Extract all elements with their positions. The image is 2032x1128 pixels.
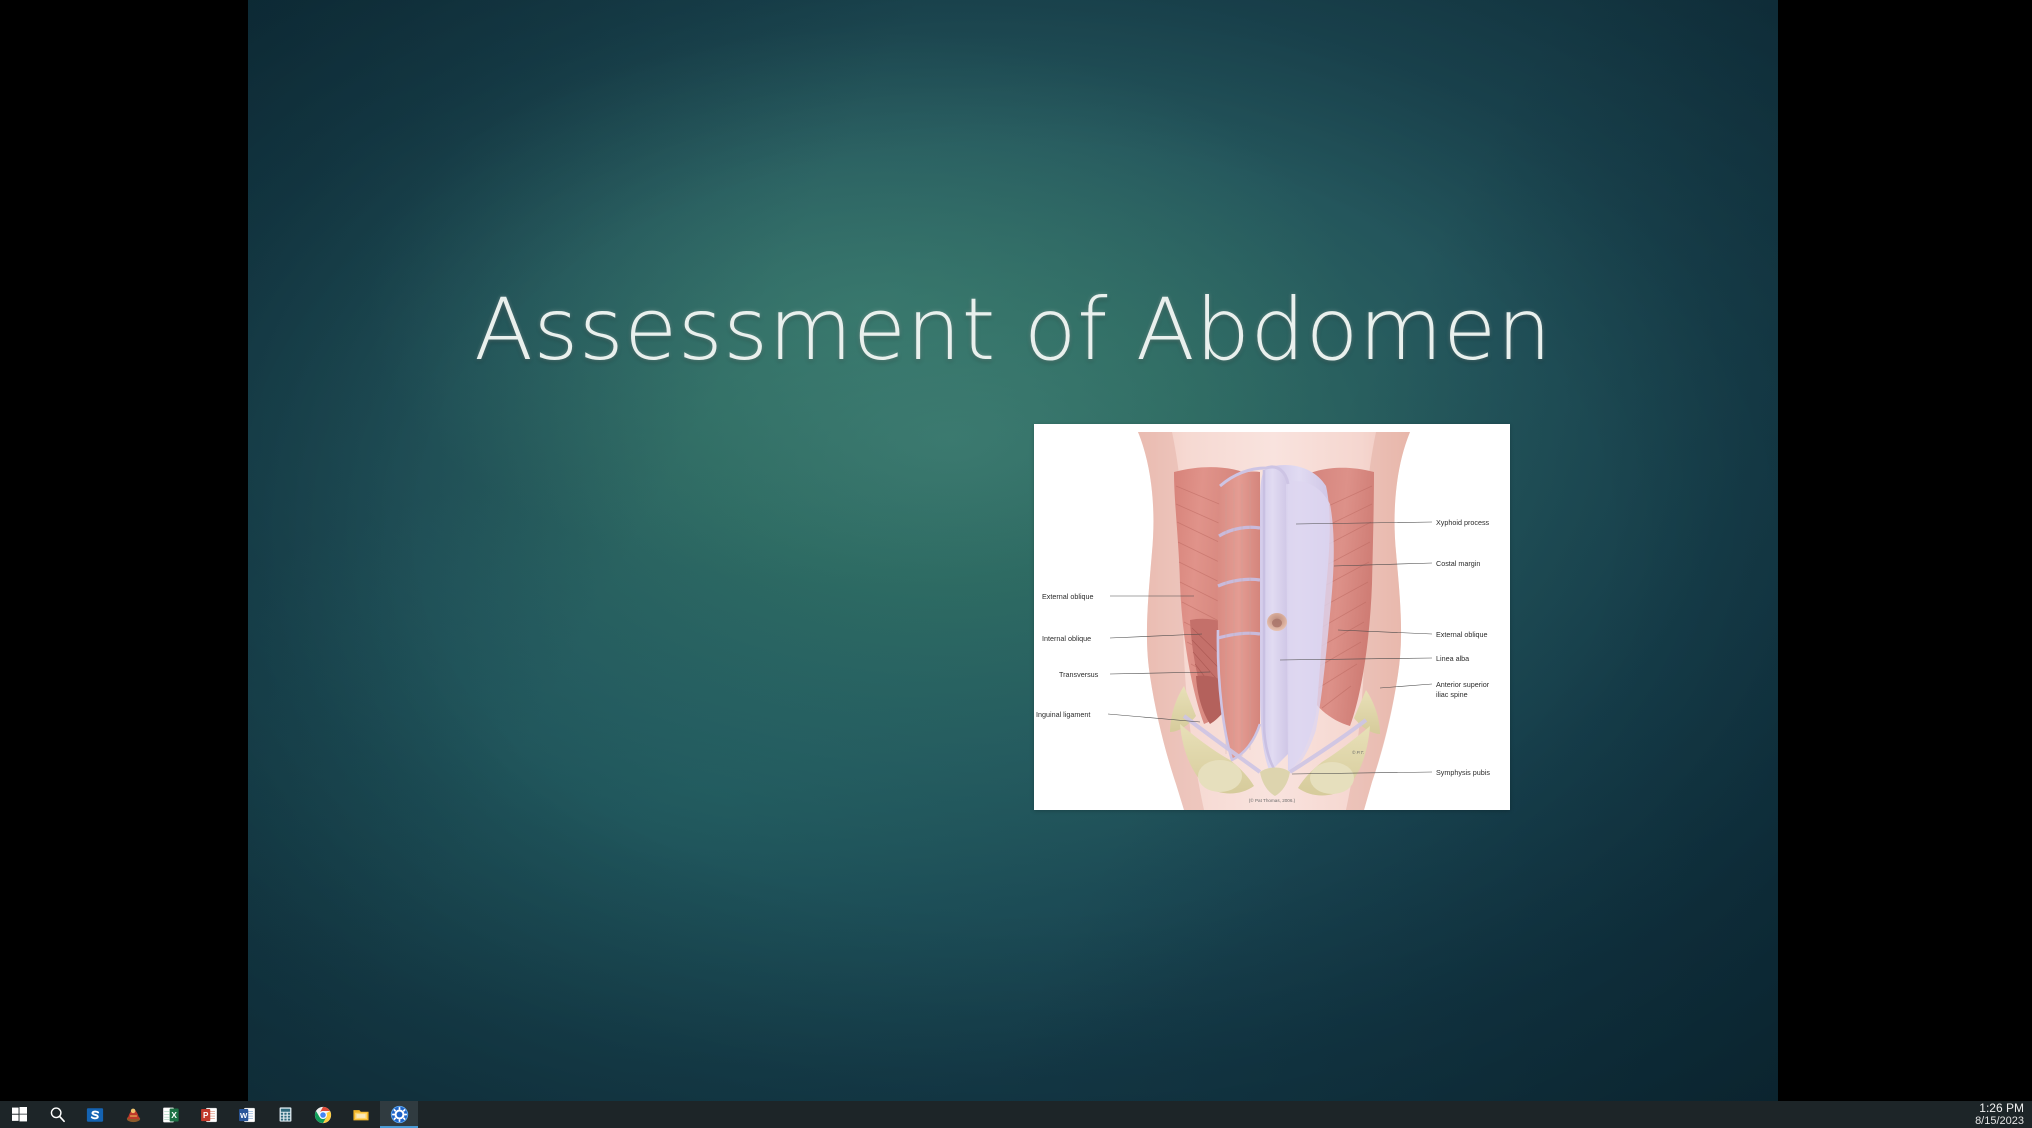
label-linea-alba: Linea alba <box>1436 654 1469 663</box>
taskbar-app-explorer[interactable] <box>342 1101 380 1128</box>
word-icon: W <box>238 1106 256 1124</box>
start-button[interactable] <box>0 1101 38 1128</box>
label-external-oblique-right: External oblique <box>1436 630 1488 639</box>
label-anterior-superior: Anterior superior <box>1436 680 1490 689</box>
label-xyphoid-process: Xyphoid process <box>1436 518 1490 527</box>
taskbar-app-word[interactable]: W <box>228 1101 266 1128</box>
taskbar-app-media[interactable] <box>114 1101 152 1128</box>
label-external-oblique-left: External oblique <box>1042 592 1094 601</box>
taskbar-app-powerpoint[interactable]: P <box>190 1101 228 1128</box>
calculator-icon <box>277 1106 294 1123</box>
abdominal-anatomy-figure[interactable]: © P.T. External oblique Internal ob <box>1034 424 1510 810</box>
clock-time: 1:26 PM <box>1979 1102 2024 1115</box>
artist-signature: © P.T. <box>1352 749 1364 755</box>
folder-icon <box>352 1106 370 1124</box>
label-costal-margin: Costal margin <box>1436 559 1480 568</box>
abdomen-illustration: © P.T. External oblique Internal ob <box>1034 424 1510 810</box>
sejda-s-icon <box>86 1106 104 1124</box>
umbilicus-inner <box>1272 619 1282 628</box>
svg-text:W: W <box>240 1110 248 1119</box>
svg-text:X: X <box>171 1110 177 1120</box>
svg-text:P: P <box>203 1110 209 1119</box>
desktop-screen: Assessment of Abdomen <box>0 0 2032 1128</box>
figure-credit: (© Pat Thomas, 2006.) <box>1249 797 1296 803</box>
settings-gear-icon <box>390 1105 409 1124</box>
label-symphysis-pubis: Symphysis pubis <box>1436 768 1490 777</box>
taskbar-app-calculator[interactable] <box>266 1101 304 1128</box>
powerpoint-icon: P <box>200 1106 218 1124</box>
label-iliac-spine: iliac spine <box>1436 690 1468 699</box>
label-internal-oblique: Internal oblique <box>1042 634 1091 643</box>
windows-logo-icon <box>12 1107 27 1122</box>
taskbar-clock[interactable]: 1:26 PM 8/15/2023 <box>1975 1101 2024 1128</box>
slide-title: Assessment of Abdomen <box>248 285 1778 375</box>
search-icon <box>49 1106 66 1123</box>
taskbar-app-settings[interactable] <box>380 1101 418 1128</box>
slide-background-vignette <box>248 0 1778 1101</box>
label-transversus: Transversus <box>1059 670 1099 679</box>
search-button[interactable] <box>38 1101 76 1128</box>
clock-date: 8/15/2023 <box>1975 1115 2024 1128</box>
excel-icon: X <box>162 1106 180 1124</box>
windows-taskbar[interactable]: X P <box>0 1101 2032 1128</box>
taskbar-app-excel[interactable]: X <box>152 1101 190 1128</box>
label-inguinal-ligament: Inguinal ligament <box>1036 710 1090 719</box>
obturator-foramen-left <box>1198 760 1242 792</box>
taskbar-app-sejda[interactable] <box>76 1101 114 1128</box>
taskbar-app-chrome[interactable] <box>304 1101 342 1128</box>
presentation-slide[interactable]: Assessment of Abdomen <box>248 0 1778 1101</box>
obturator-foramen-right <box>1310 762 1354 794</box>
media-app-icon <box>124 1105 143 1124</box>
chrome-icon <box>314 1106 332 1124</box>
